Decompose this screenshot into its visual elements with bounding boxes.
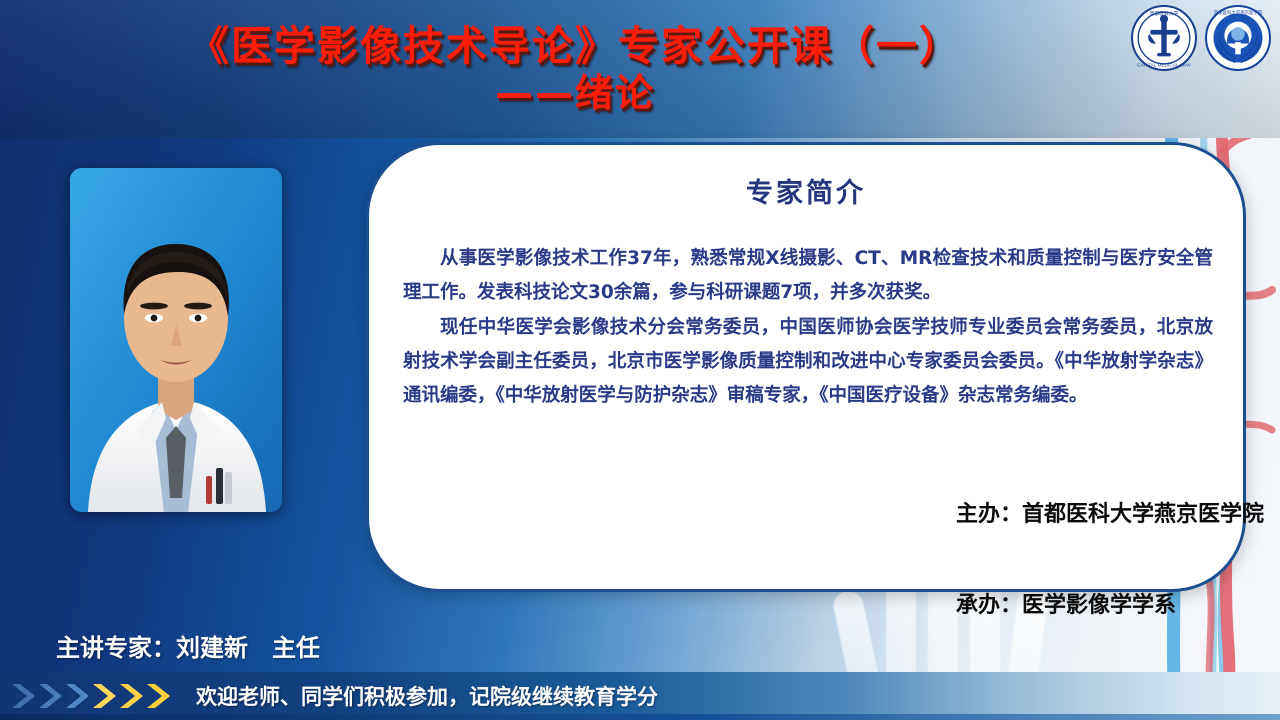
- capital-medical-university-logo: CAPITAL MEDICAL UNIV 首都医科大学: [1130, 4, 1198, 72]
- banner-text: 欢迎老师、同学们积极参加，记院级继续教育学分: [196, 681, 658, 711]
- page-subtitle: ——绪论: [495, 73, 655, 113]
- co-host-line: 承办：医学影像学学系: [956, 591, 1264, 621]
- speaker-portrait: [70, 168, 282, 512]
- organizer-block: 主办：首都医科大学燕京医学院 承办：医学影像学学系: [956, 439, 1264, 682]
- speaker-value: 刘建新 主任: [176, 634, 320, 662]
- speaker-label: 主讲专家：: [56, 634, 176, 662]
- yanjing-medical-college-logo: 首都医科大学燕京医学院: [1204, 4, 1272, 72]
- logo-group: CAPITAL MEDICAL UNIV 首都医科大学 首都医科大学燕京医学院: [1130, 4, 1272, 72]
- chevron-right-icon-6: [143, 681, 177, 711]
- card-body: 从事医学影像技术工作37年，熟悉常规X线摄影、CT、MR检查技术和质量控制与医疗…: [403, 242, 1213, 412]
- arrow-group: [8, 681, 170, 711]
- slide-root: 《医学影像技术导论》专家公开课（一） ——绪论 CAPITAL MEDICAL …: [0, 0, 1280, 720]
- portrait-photo: [70, 168, 282, 512]
- profile-paragraph-2: 现任中华医学会影像技术分会常务委员，中国医师协会医学技师专业委员会常务委员，北京…: [403, 311, 1213, 412]
- card-heading: 专家简介: [369, 171, 1243, 210]
- speaker-row: 主讲专家：刘建新 主任: [56, 632, 684, 665]
- page-title: 《医学影像技术导论》专家公开课（一）: [188, 25, 962, 68]
- host-line: 主办：首都医科大学燕京医学院: [956, 500, 1264, 530]
- svg-text:CAPITAL MEDICAL UNIV: CAPITAL MEDICAL UNIV: [1137, 63, 1192, 69]
- title-block: 《医学影像技术导论》专家公开课（一） ——绪论: [0, 0, 1150, 138]
- bottom-banner: 欢迎老师、同学们积极参加，记院级继续教育学分: [0, 672, 1280, 720]
- profile-paragraph-1: 从事医学影像技术工作37年，熟悉常规X线摄影、CT、MR检查技术和质量控制与医疗…: [403, 242, 1213, 309]
